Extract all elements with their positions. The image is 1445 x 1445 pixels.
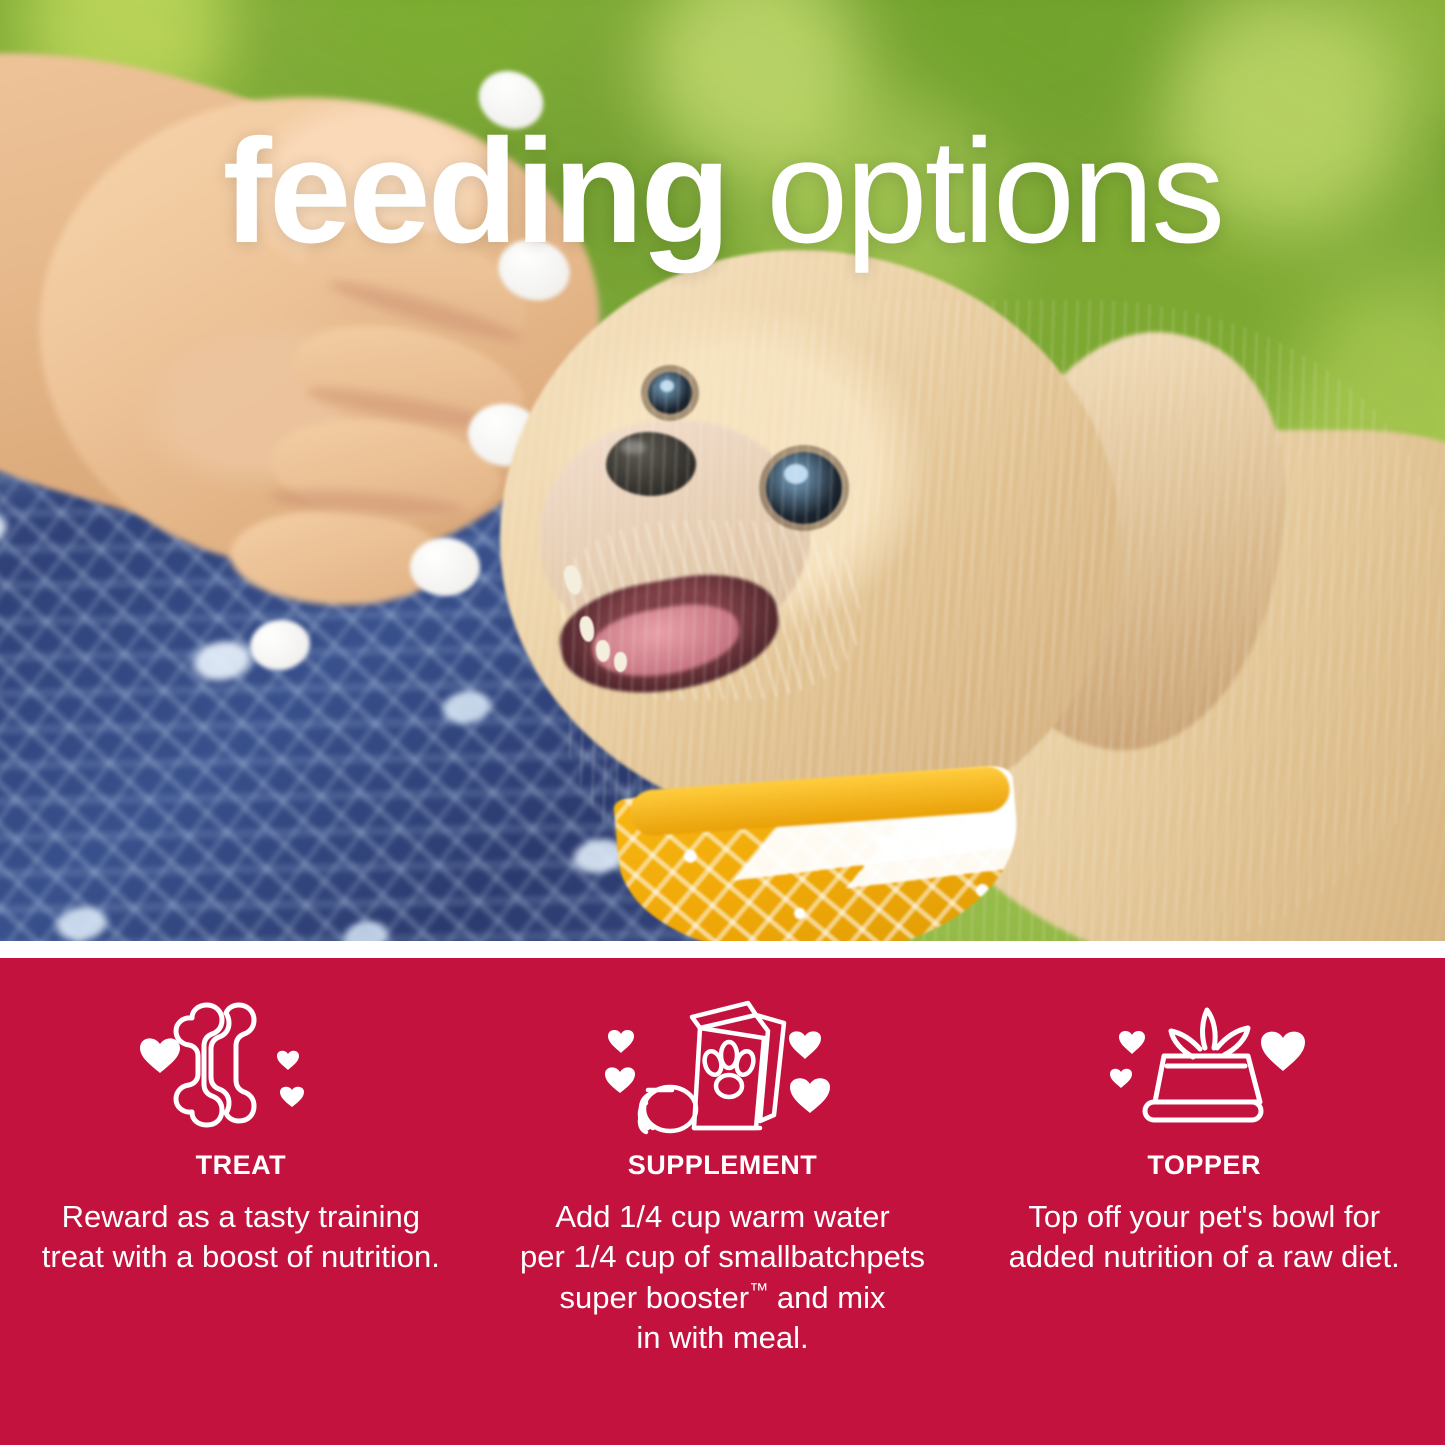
option-column-topper: TOPPER Top off your pet's bowl for added… <box>963 958 1445 1445</box>
supplement-line-1: Add 1/4 cup warm water <box>555 1199 889 1234</box>
options-columns: TREAT Reward as a tasty training treat w… <box>0 958 1445 1445</box>
page-title-part2: options <box>728 109 1222 274</box>
trademark-symbol: ™ <box>749 1280 768 1301</box>
option-column-supplement: SUPPLEMENT Add 1/4 cup warm waterper 1/4… <box>482 958 964 1445</box>
fingernail <box>410 538 480 596</box>
feeding-options-graphic: feeding options TREAT <box>0 0 1445 1445</box>
supplement-line-5: in with meal. <box>636 1320 808 1355</box>
column-title-topper: TOPPER <box>1147 1150 1261 1181</box>
option-column-treat: TREAT Reward as a tasty training treat w… <box>0 958 482 1445</box>
column-description-supplement: Add 1/4 cup warm waterper 1/4 cup of sma… <box>520 1197 925 1358</box>
column-description-topper: Top off your pet's bowl for added nutrit… <box>1004 1197 1404 1278</box>
dog-bone-with-hearts-icon <box>136 996 346 1136</box>
feeding-options-panel: TREAT Reward as a tasty training treat w… <box>0 958 1445 1445</box>
supplement-line-2: per 1/4 cup of smallbatchpets <box>520 1239 925 1274</box>
supplement-icon-wrap <box>598 996 848 1136</box>
treat-icon-wrap <box>136 996 346 1136</box>
hero-photo: feeding options <box>0 0 1445 941</box>
food-bag-with-paw-print-and-hearts-icon <box>598 991 848 1141</box>
supplement-line-4: and mix <box>768 1280 885 1315</box>
section-divider <box>0 941 1445 958</box>
page-title: feeding options <box>0 118 1445 266</box>
pet-food-bowl-with-hearts-icon <box>1097 996 1312 1136</box>
column-title-supplement: SUPPLEMENT <box>628 1150 818 1181</box>
page-title-part1: feeding <box>223 109 728 274</box>
supplement-line-3: super booster <box>560 1280 750 1315</box>
column-title-treat: TREAT <box>196 1150 287 1181</box>
column-description-treat: Reward as a tasty training treat with a … <box>41 1197 441 1278</box>
topper-icon-wrap <box>1097 996 1312 1136</box>
